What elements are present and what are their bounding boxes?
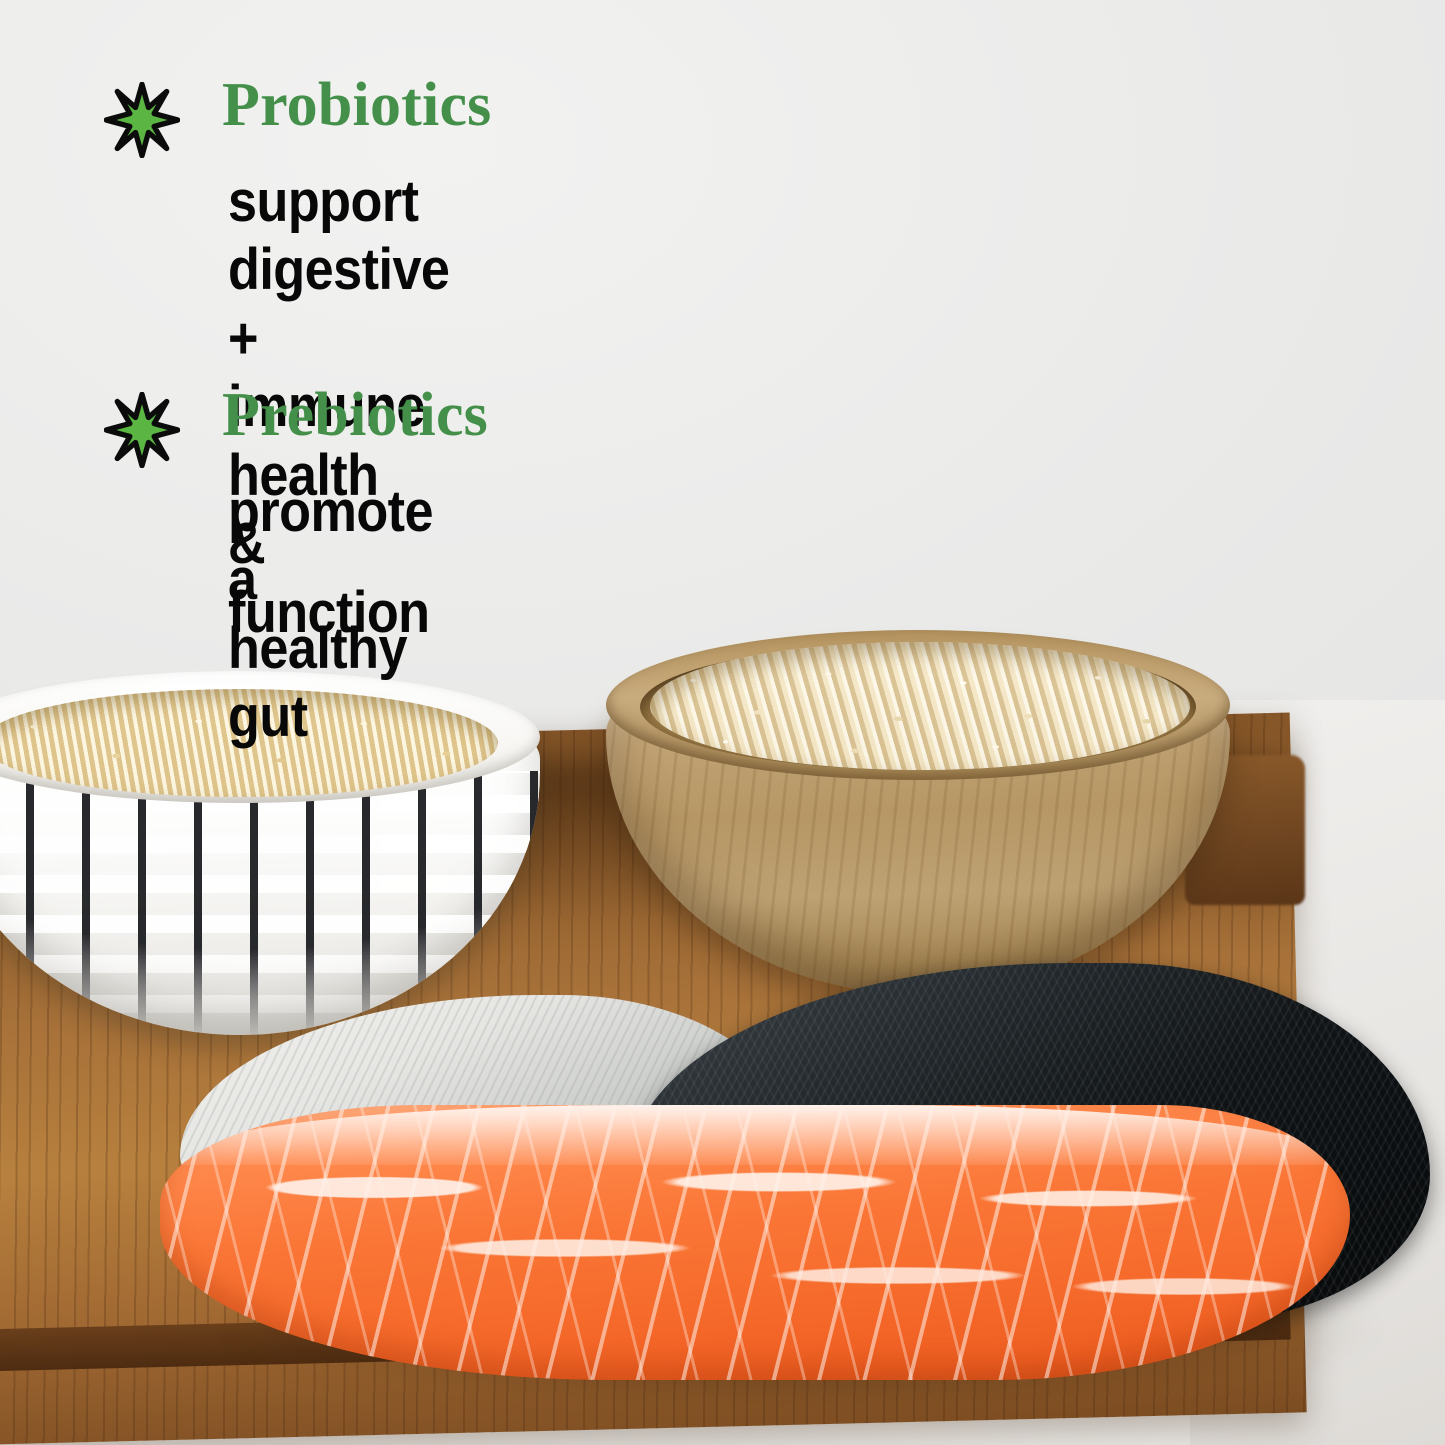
benefit-copy-block: Probiotics support digestive + immune he… <box>0 0 1445 600</box>
eight-point-star-icon <box>104 392 180 468</box>
infographic-canvas: Probiotics support digestive + immune he… <box>0 0 1445 1445</box>
salmon-fillet <box>160 955 1420 1395</box>
benefit-body: promote a healthy gut <box>228 478 433 752</box>
salmon-flesh <box>160 1105 1350 1380</box>
benefit-heading: Probiotics <box>222 74 492 136</box>
rolled-oats <box>650 642 1190 770</box>
eight-point-star-icon <box>104 82 180 158</box>
benefit-heading: Prebiotics <box>222 384 488 446</box>
wooden-bowl <box>588 600 1248 1000</box>
salmon-marbling <box>160 1105 1350 1380</box>
